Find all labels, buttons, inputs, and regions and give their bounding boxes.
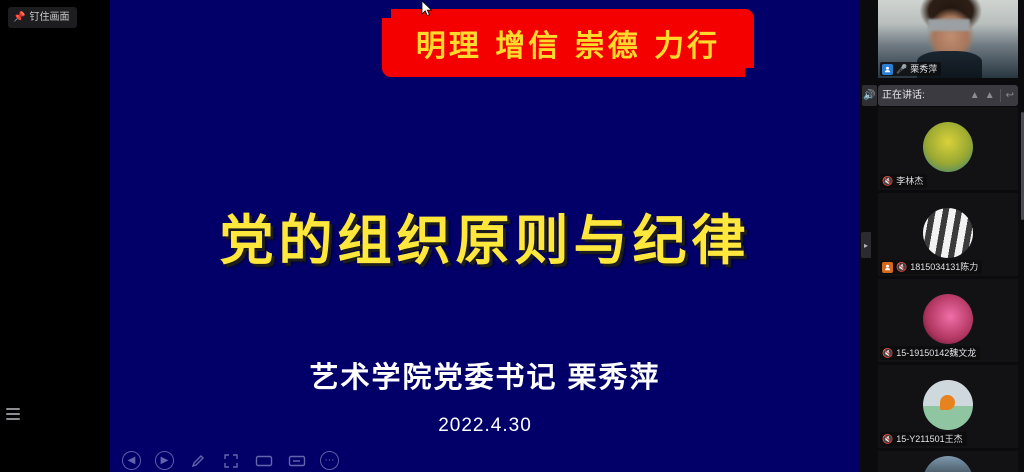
screen-icon[interactable] — [254, 451, 273, 470]
mic-muted-icon: 🔇 — [896, 263, 907, 272]
mic-muted-icon: 🔇 — [882, 177, 893, 186]
slide-banner: 明理 增信 崇德 力行 — [382, 9, 754, 77]
presentation-slide[interactable]: 明理 增信 崇德 力行 党的组织原则与纪律 艺术学院党委书记 栗秀萍 2022.… — [110, 0, 860, 472]
avatar — [923, 380, 973, 430]
list-item[interactable]: 🔇 李林杰 — [878, 107, 1018, 190]
blur-overlay — [928, 19, 970, 31]
slide-banner-text: 明理 增信 崇德 力行 — [416, 21, 720, 65]
participant-name: 15-Y211501王杰 — [896, 435, 962, 444]
avatar — [923, 122, 973, 172]
divider — [1000, 89, 1001, 102]
back-arrow-icon[interactable]: ↩ — [1006, 91, 1014, 101]
speaking-status-bar: 正在讲话: ▲ ▲ ↩ — [878, 85, 1018, 106]
list-item[interactable]: 🔇 1815034131陈力 — [878, 193, 1018, 276]
pin-icon: 📌 — [13, 13, 25, 23]
pen-icon[interactable] — [188, 451, 207, 470]
banner-notch-top-left — [382, 9, 391, 18]
mic-on-icon: 🎤 — [896, 65, 907, 74]
slide-presenter: 艺术学院党委书记 栗秀萍 — [110, 354, 860, 396]
ellipsis-icon[interactable]: ⋯ — [320, 451, 339, 470]
presentation-toolbar: ◀ ▶ ⋯ — [122, 451, 339, 470]
chevron-up-icon[interactable]: ▲ — [985, 91, 995, 101]
participant-label: 🔇 15-Y211501王杰 — [880, 432, 967, 446]
speaker-icon: 🔊 — [862, 85, 877, 106]
participant-label: 🔇 1815034131陈力 — [880, 260, 982, 274]
pin-screen-button[interactable]: 📌 钉住画面 — [8, 7, 77, 28]
participant-label: 🔇 15-19150142魏文龙 — [880, 346, 980, 360]
self-video-tile[interactable]: 🎤 栗秀萍 — [878, 0, 1018, 78]
slide-date: 2022.4.30 — [110, 415, 860, 437]
expand-icon[interactable] — [221, 451, 240, 470]
participant-label: 🔇 李林杰 — [880, 174, 927, 188]
pin-screen-label: 钉住画面 — [29, 13, 69, 23]
mic-muted-icon: 🔇 — [882, 435, 893, 444]
chevron-right-icon[interactable]: ▸ — [861, 232, 871, 258]
self-tile-label: 🎤 栗秀萍 — [880, 62, 941, 76]
list-icon[interactable] — [6, 406, 22, 422]
avatar — [923, 208, 973, 258]
participant-list[interactable]: 🔇 李林杰 🔇 1815034131陈力 🔇 15-19150142魏文龙 — [878, 107, 1018, 472]
prev-slide-button[interactable]: ◀ — [122, 451, 141, 470]
list-item[interactable]: 🔇 15-19150142魏文龙 — [878, 279, 1018, 362]
avatar — [923, 294, 973, 344]
user-icon — [882, 262, 893, 273]
next-slide-button[interactable]: ▶ — [155, 451, 174, 470]
list-item[interactable] — [878, 451, 1018, 472]
participant-name: 1815034131陈力 — [910, 263, 978, 272]
list-item[interactable]: 🔇 15-Y211501王杰 — [878, 365, 1018, 448]
host-icon — [882, 64, 893, 75]
left-gutter — [0, 0, 110, 472]
mic-muted-icon: 🔇 — [882, 349, 893, 358]
notes-icon[interactable] — [287, 451, 306, 470]
participant-name: 15-19150142魏文龙 — [896, 349, 976, 358]
chevron-up-icon[interactable]: ▲ — [970, 91, 980, 101]
participant-name: 李林杰 — [896, 177, 923, 186]
speaking-status-label: 正在讲话: — [882, 91, 965, 101]
avatar — [923, 456, 973, 472]
slide-title: 党的组织原则与纪律 — [110, 196, 860, 275]
banner-notch-bottom-right — [745, 68, 754, 77]
self-tile-name: 栗秀萍 — [910, 65, 937, 74]
meeting-screen-share-window: 📌 钉住画面 明理 增信 崇德 力行 党的组织原则与纪律 艺术学院党委书记 栗秀… — [0, 0, 1024, 472]
